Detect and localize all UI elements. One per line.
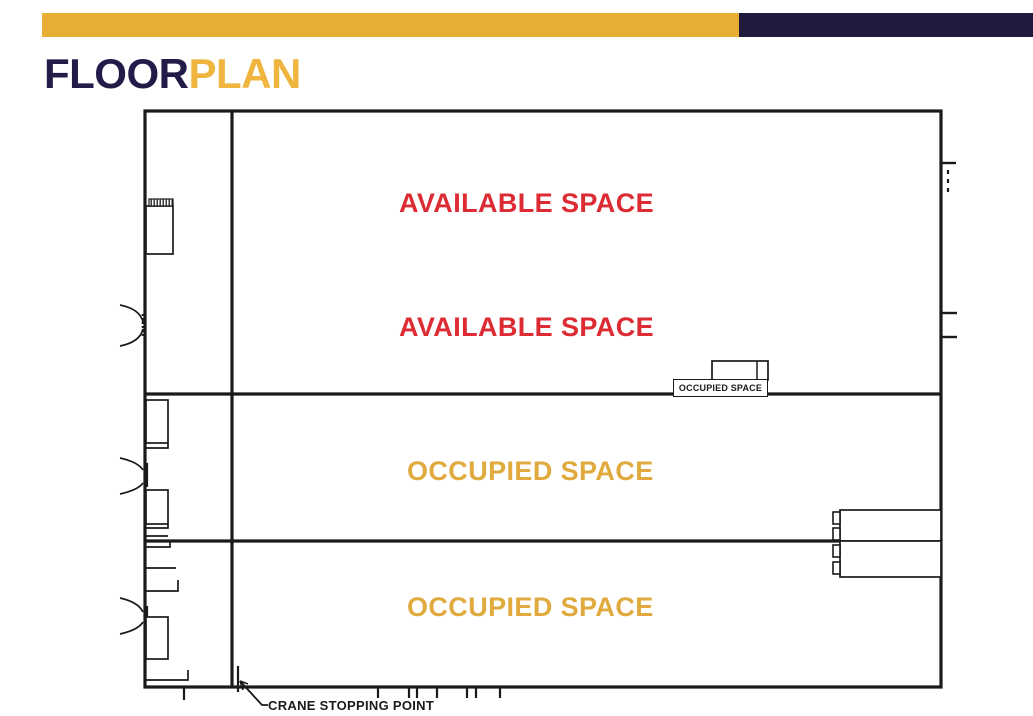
right-room-upper: [840, 510, 941, 541]
door-symbol-upper-left: [120, 305, 143, 346]
label-available-space-2: AVAILABLE SPACE: [399, 312, 654, 343]
right-room-notch-4: [833, 562, 840, 574]
stair-hatch-band: [149, 199, 173, 206]
left-room-lower: [146, 617, 168, 659]
door-symbol-lower-left: [120, 598, 147, 634]
right-room-notch-3: [833, 545, 840, 557]
stair-room-outline: [146, 206, 173, 254]
right-room-notch-2: [833, 528, 840, 540]
crane-stopping-point-label: CRANE STOPPING POINT: [268, 698, 434, 713]
occupied-space-tag: OCCUPIED SPACE: [673, 379, 768, 397]
label-available-space-1: AVAILABLE SPACE: [399, 188, 654, 219]
door-symbol-middle-left: [120, 458, 147, 494]
label-occupied-space-1: OCCUPIED SPACE: [407, 456, 654, 487]
left-room-mid-lower: [146, 490, 168, 524]
label-occupied-space-2: OCCUPIED SPACE: [407, 592, 654, 623]
left-room-mid-upper: [146, 400, 168, 443]
occupied-unit-box: [712, 361, 768, 380]
right-room-lower: [840, 541, 941, 577]
occupied-space-tag-label: OCCUPIED SPACE: [679, 383, 762, 393]
right-room-notch-1: [833, 512, 840, 524]
